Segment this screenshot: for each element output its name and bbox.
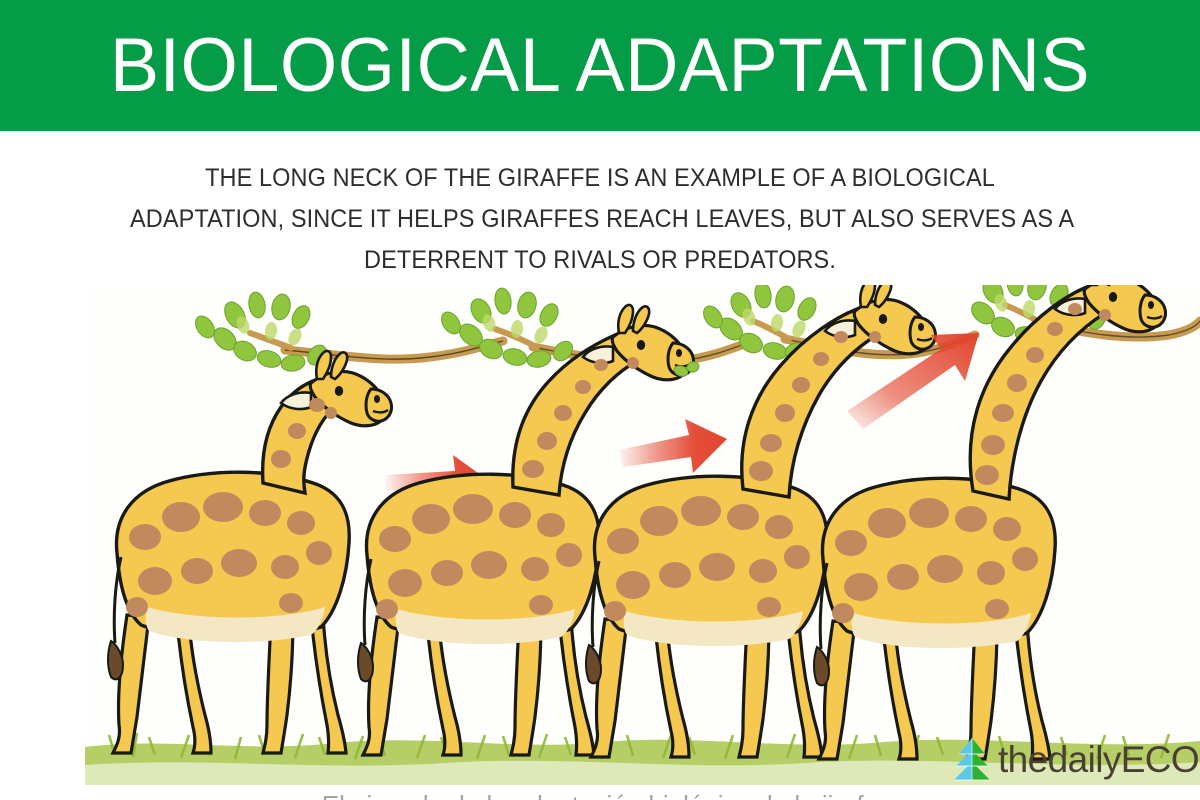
giraffe-stage-1 bbox=[108, 351, 392, 753]
logo-wordmark: thedailyECO bbox=[998, 741, 1199, 778]
header-banner: BIOLOGICAL ADAPTATIONS bbox=[0, 0, 1200, 131]
subtitle-line-3: DETERRENT TO RIVALS OR PREDATORS. bbox=[130, 240, 1070, 281]
thedailyeco-logo[interactable]: thedailyECO bbox=[952, 731, 1192, 787]
subtitle-paragraph: THE LONG NECK OF THE GIRAFFE IS AN EXAMP… bbox=[130, 158, 1070, 281]
pine-tree-icon bbox=[952, 736, 992, 782]
subtitle-line-2: ADAPTATION, SINCE IT HELPS GIRAFFES REAC… bbox=[130, 199, 1070, 240]
progression-arrow-2[interactable] bbox=[619, 419, 727, 473]
giraffe-illustration bbox=[85, 285, 1200, 785]
page-title: BIOLOGICAL ADAPTATIONS bbox=[18, 0, 1182, 131]
infographic-page: BIOLOGICAL ADAPTATIONS THE LONG NECK OF … bbox=[0, 0, 1200, 800]
giraffe-evolution-svg bbox=[85, 285, 1200, 785]
bottom-caption: El ejemplo de la adaptación biológica de… bbox=[110, 790, 1090, 800]
subtitle-line-1: THE LONG NECK OF THE GIRAFFE IS AN EXAMP… bbox=[130, 158, 1070, 199]
